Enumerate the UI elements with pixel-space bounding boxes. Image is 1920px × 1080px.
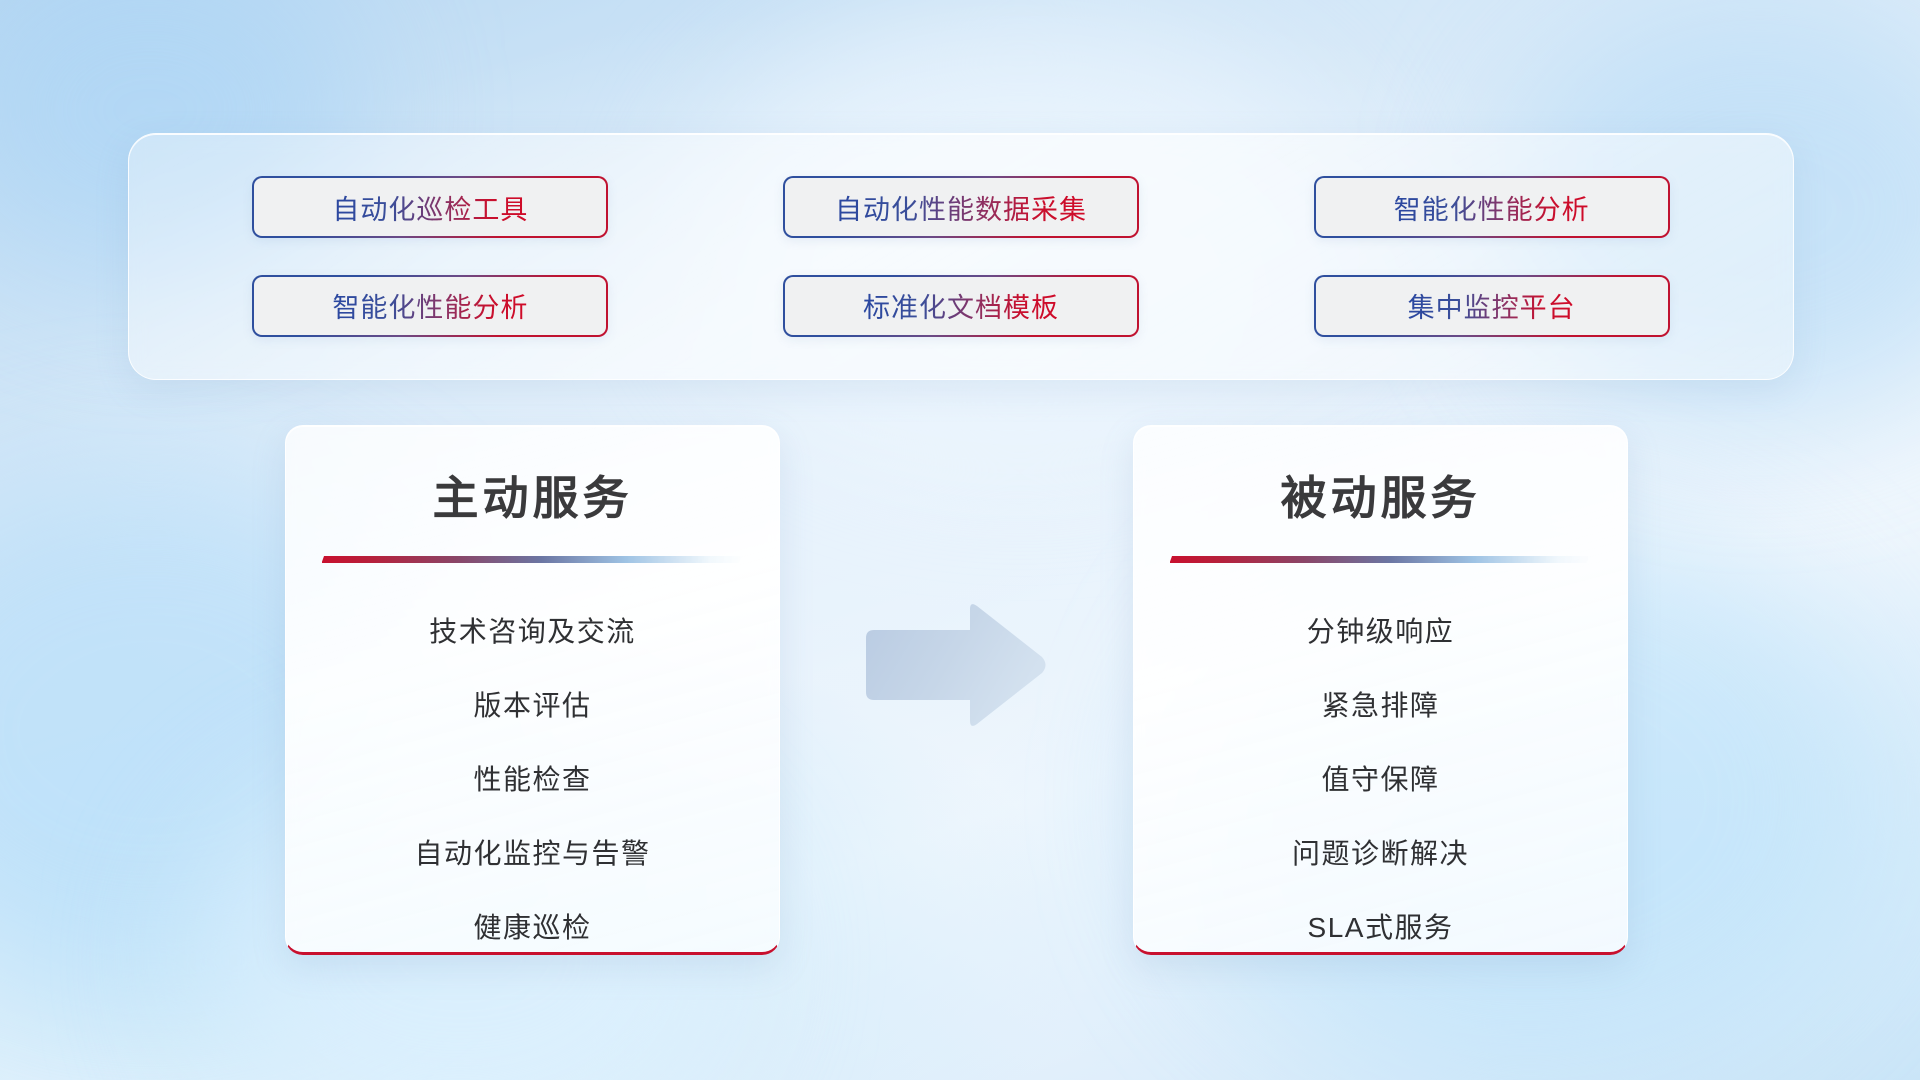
capability-pill-label: 自动化巡检工具 bbox=[332, 188, 528, 227]
list-item: SLA式服务 bbox=[1134, 889, 1627, 955]
capability-pill[interactable]: 标准化文档模板 bbox=[783, 275, 1139, 337]
arrow-right-icon bbox=[860, 600, 1050, 730]
list-item: 版本评估 bbox=[286, 667, 779, 741]
capability-pill-body: 集中监控平台 bbox=[1316, 277, 1668, 335]
capability-pill[interactable]: 智能化性能分析 bbox=[252, 275, 608, 337]
capability-pill-body: 自动化巡检工具 bbox=[254, 178, 606, 236]
presentation-stage: 自动化巡检工具 自动化性能数据采集 智能化性能分析 智能化性能分析 bbox=[0, 0, 1920, 1080]
active-service-card: 主动服务 技术咨询及交流 版本评估 性能检查 自动化监控与告警 健康巡检 bbox=[285, 425, 780, 955]
capability-pill-label: 集中监控平台 bbox=[1408, 286, 1576, 325]
capability-pill-body: 智能化性能分析 bbox=[254, 277, 606, 335]
capability-pill[interactable]: 集中监控平台 bbox=[1314, 275, 1670, 337]
list-item: 分钟级响应 bbox=[1134, 593, 1627, 667]
title-divider bbox=[1170, 556, 1592, 563]
capability-pill-label: 智能化性能分析 bbox=[332, 286, 528, 325]
capability-pill-label: 标准化文档模板 bbox=[863, 286, 1059, 325]
passive-service-list: 分钟级响应 紧急排障 值守保障 问题诊断解决 SLA式服务 bbox=[1134, 563, 1627, 955]
title-divider bbox=[322, 556, 744, 563]
active-service-list: 技术咨询及交流 版本评估 性能检查 自动化监控与告警 健康巡检 bbox=[286, 563, 779, 955]
passive-service-title: 被动服务 bbox=[1134, 426, 1627, 528]
active-service-title: 主动服务 bbox=[286, 426, 779, 528]
capability-pill-body: 智能化性能分析 bbox=[1316, 178, 1668, 236]
list-item: 值守保障 bbox=[1134, 741, 1627, 815]
list-item: 性能检查 bbox=[286, 741, 779, 815]
list-item: 紧急排障 bbox=[1134, 667, 1627, 741]
capability-pill[interactable]: 自动化巡检工具 bbox=[252, 176, 608, 238]
list-item: 技术咨询及交流 bbox=[286, 593, 779, 667]
list-item: 自动化监控与告警 bbox=[286, 815, 779, 889]
capabilities-panel: 自动化巡检工具 自动化性能数据采集 智能化性能分析 智能化性能分析 bbox=[128, 133, 1794, 380]
capabilities-pill-grid: 自动化巡检工具 自动化性能数据采集 智能化性能分析 智能化性能分析 bbox=[129, 134, 1793, 379]
list-item: 问题诊断解决 bbox=[1134, 815, 1627, 889]
passive-service-card: 被动服务 分钟级响应 紧急排障 值守保障 问题诊断解决 SLA式服务 bbox=[1133, 425, 1628, 955]
capability-pill[interactable]: 自动化性能数据采集 bbox=[783, 176, 1139, 238]
capability-pill-body: 自动化性能数据采集 bbox=[785, 178, 1137, 236]
capability-pill-label: 自动化性能数据采集 bbox=[835, 188, 1087, 227]
capability-pill[interactable]: 智能化性能分析 bbox=[1314, 176, 1670, 238]
capability-pill-body: 标准化文档模板 bbox=[785, 277, 1137, 335]
list-item: 健康巡检 bbox=[286, 889, 779, 955]
capability-pill-label: 智能化性能分析 bbox=[1394, 188, 1590, 227]
